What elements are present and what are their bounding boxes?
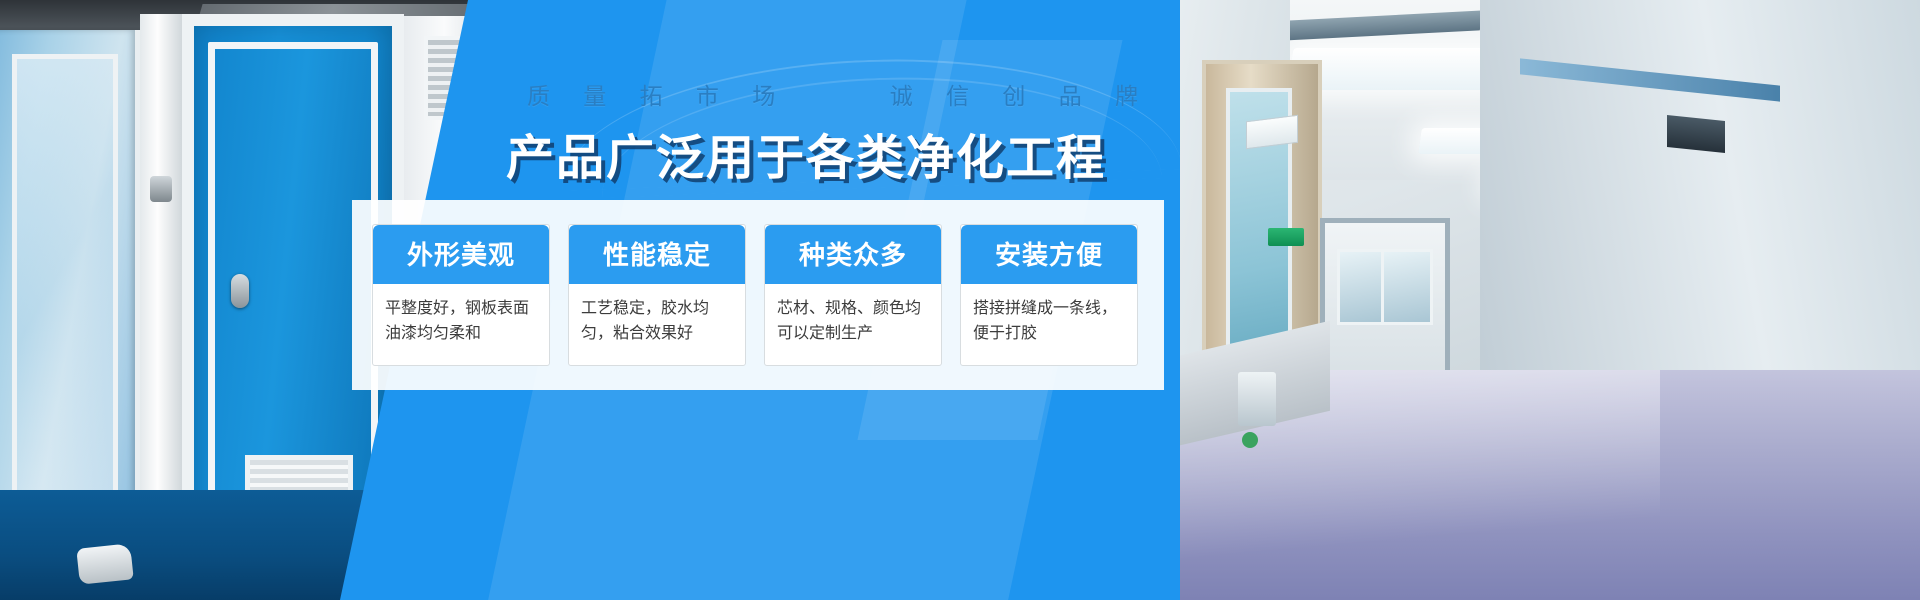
floor-marker	[1242, 432, 1258, 448]
ground-object	[76, 543, 133, 584]
feature-card-title: 种类众多	[765, 225, 941, 284]
feature-card-body: 工艺稳定，胶水均匀，粘合效果好	[569, 284, 745, 365]
door-handle	[231, 274, 249, 308]
feature-card-strip: 外形美观 平整度好，钢板表面油漆均匀柔和 性能稳定 工艺稳定，胶水均匀，粘合效果…	[352, 200, 1164, 390]
feature-card[interactable]: 种类众多 芯材、规格、颜色均可以定制生产	[764, 224, 942, 366]
banner-tagline: 质 量 拓 市 场 诚 信 创 品 牌	[527, 77, 1151, 111]
feature-card[interactable]: 安装方便 搭接拼缝成一条线，便于打胶	[960, 224, 1138, 366]
exit-sign-icon	[1268, 228, 1304, 246]
wall-vent-unit	[1667, 115, 1725, 153]
feature-card-title: 性能稳定	[569, 225, 745, 284]
feature-card-body: 搭接拼缝成一条线，便于打胶	[961, 284, 1137, 365]
glass-cabin	[0, 30, 142, 570]
feature-card-body: 芯材、规格、颜色均可以定制生产	[765, 284, 941, 365]
feature-card-title: 安装方便	[961, 225, 1137, 284]
corridor-equipment	[1238, 372, 1276, 426]
feature-card-body: 平整度好，钢板表面油漆均匀柔和	[373, 284, 549, 365]
door-lock	[150, 176, 172, 202]
feature-card[interactable]: 性能稳定 工艺稳定，胶水均匀，粘合效果好	[568, 224, 746, 366]
feature-card-title: 外形美观	[373, 225, 549, 284]
banner-headline: 产品广泛用于各类净化工程	[506, 118, 1106, 188]
feature-card[interactable]: 外形美观 平整度好，钢板表面油漆均匀柔和	[372, 224, 550, 366]
promotional-banner: 质 量 拓 市 场 诚 信 创 品 牌 产品广泛用于各类净化工程 外形美观 平整…	[0, 0, 1920, 600]
